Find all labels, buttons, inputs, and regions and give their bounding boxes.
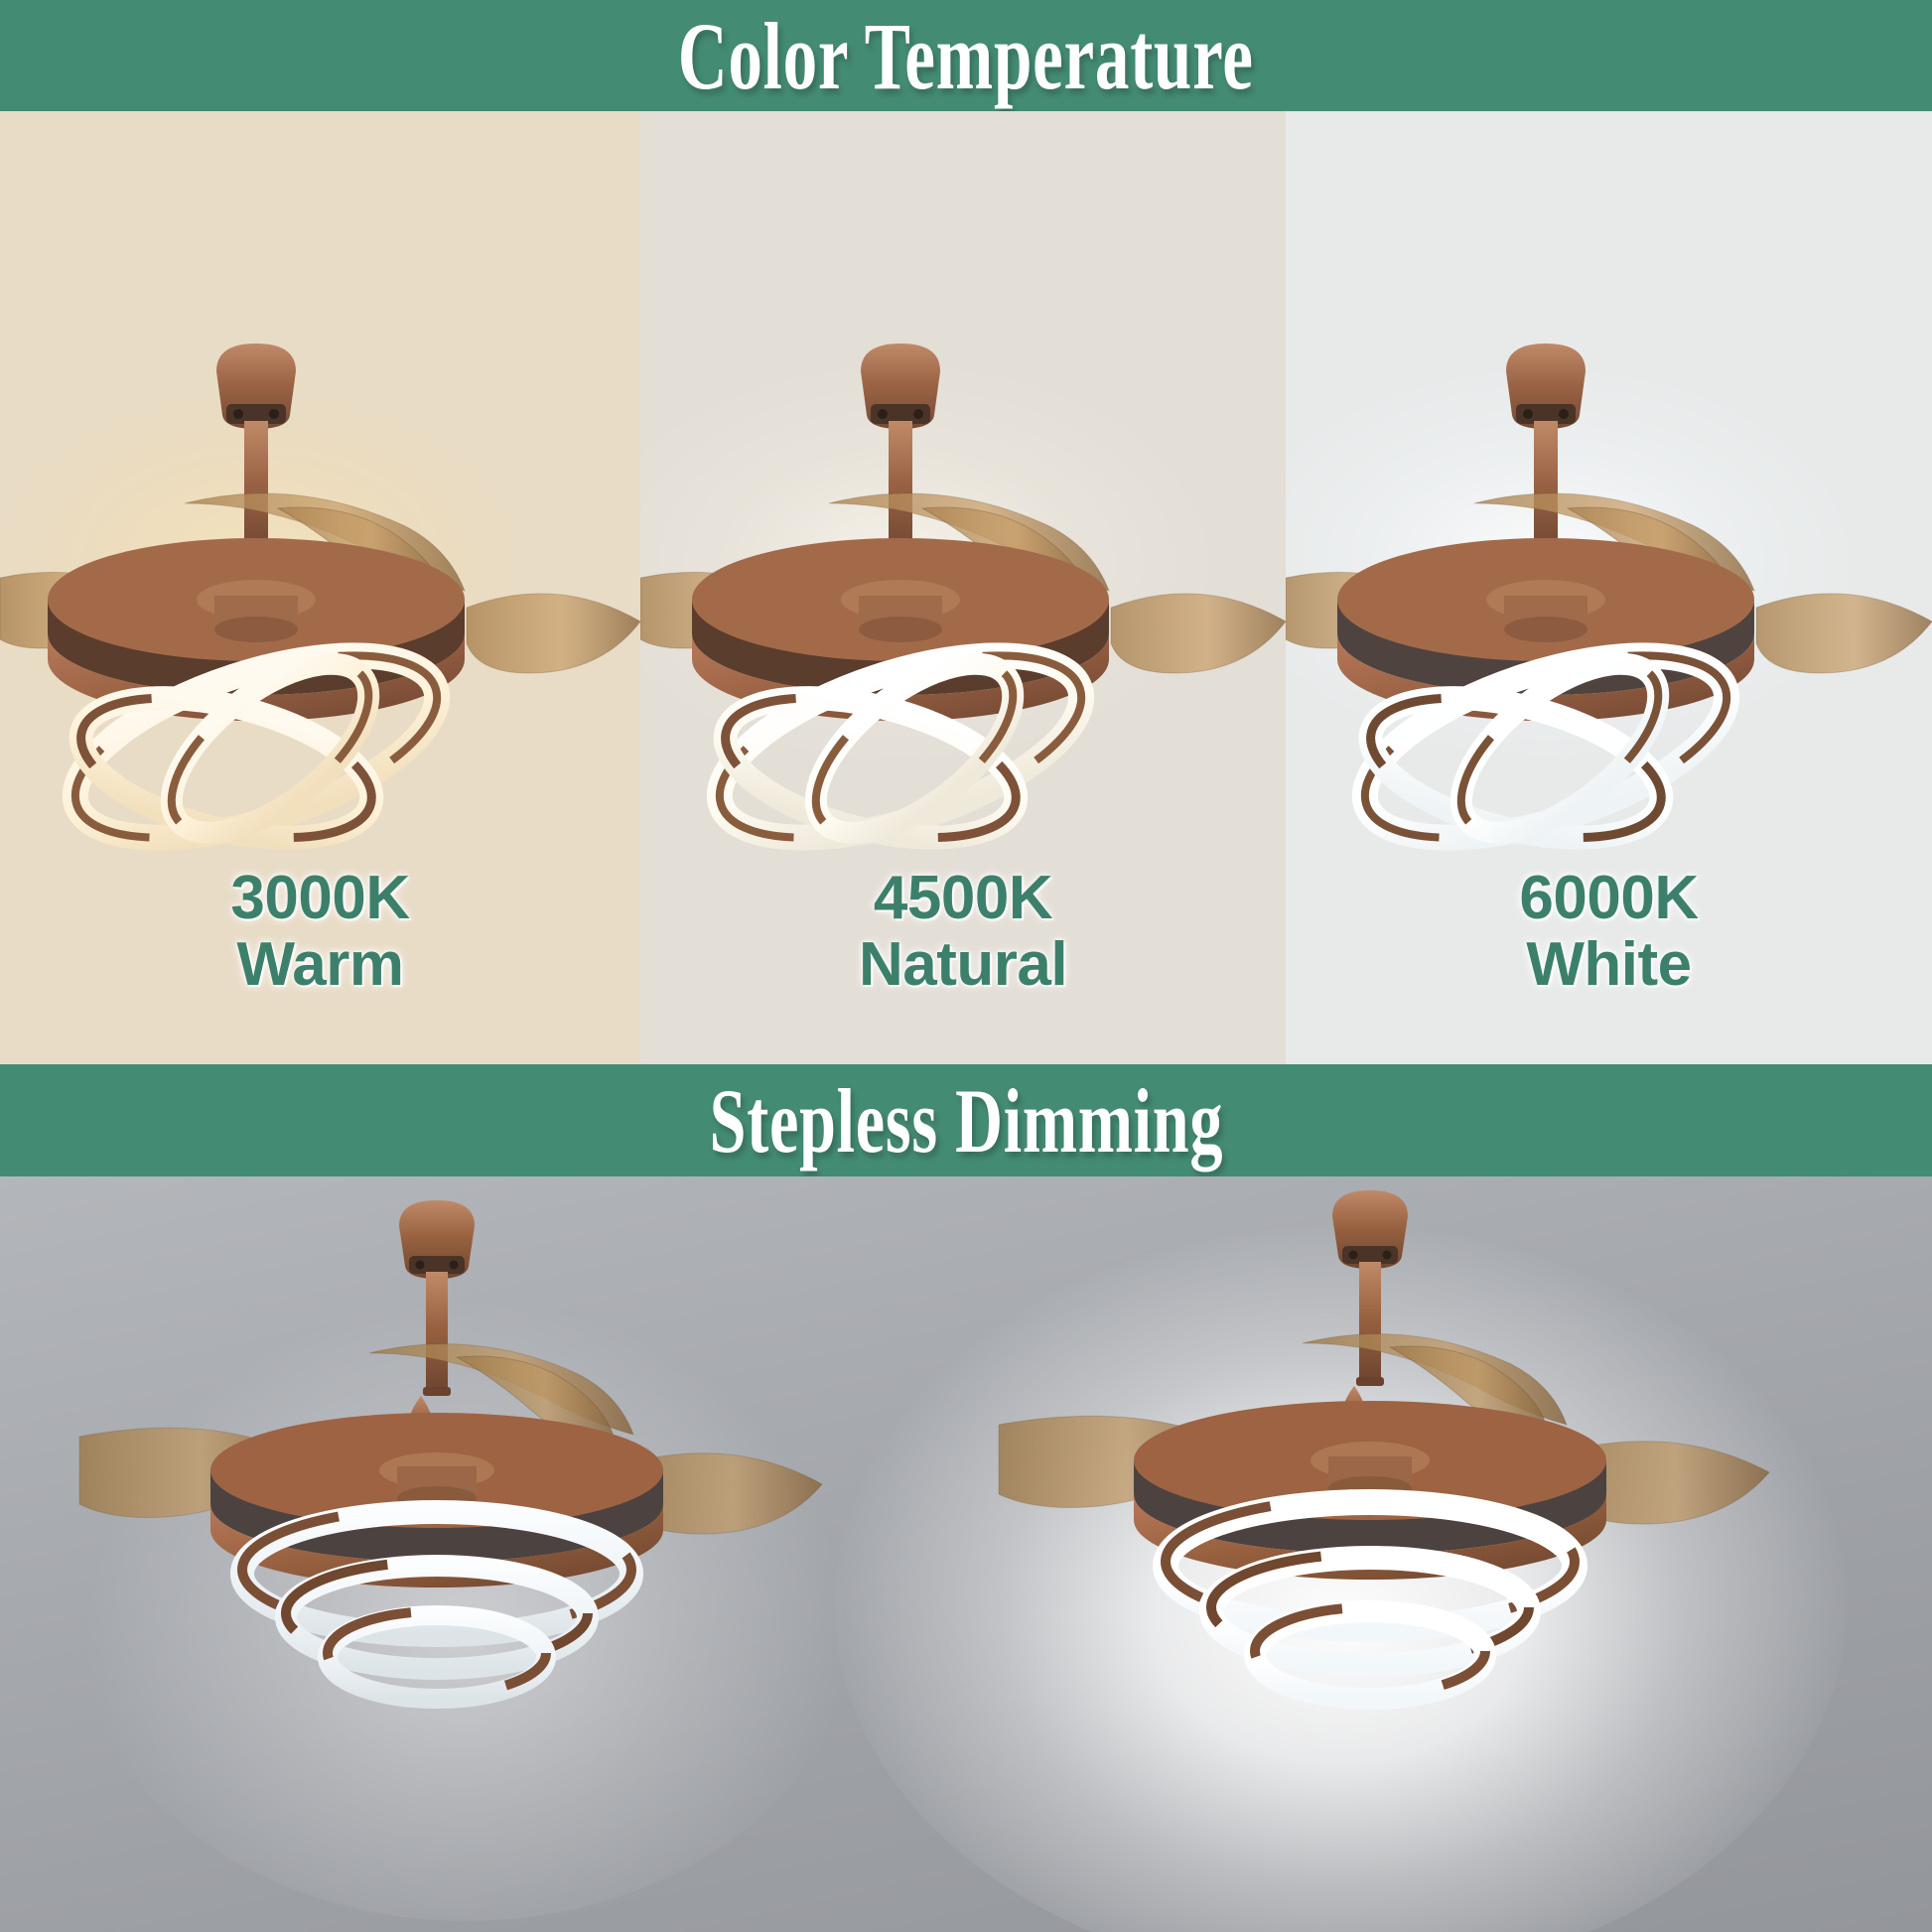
color-temperature-banner: Color Temperature: [0, 0, 1932, 111]
caption-natural: 4500K Natural: [640, 866, 1286, 999]
infographic-page: Color Temperature: [0, 0, 1932, 1932]
kelvin-value-natural: 4500K: [640, 866, 1286, 932]
stepless-dimming-title: Stepless Dimming: [709, 1068, 1223, 1173]
stepless-dimming-banner: Stepless Dimming: [0, 1064, 1932, 1176]
kelvin-value-white: 6000K: [1286, 866, 1932, 932]
color-temperature-panel-white: 6000K White: [1286, 111, 1932, 1064]
caption-white: 6000K White: [1286, 866, 1932, 999]
color-temperature-panel-warm: 3000K Warm: [0, 111, 640, 1064]
kelvin-name-natural: Natural: [640, 932, 1286, 999]
fan-mount-dim-low: [399, 1200, 475, 1449]
dimming-fan-low: [20, 1176, 913, 1772]
kelvin-name-warm: Warm: [0, 932, 640, 999]
caption-warm: 3000K Warm: [0, 866, 640, 999]
ceiling-fan-illustration-dim-high: [874, 1176, 1906, 1772]
color-temperature-panel-natural: 4500K Natural: [640, 111, 1286, 1064]
stepless-dimming-row: 10%: [0, 1176, 1932, 1932]
kelvin-value-warm: 3000K: [0, 866, 640, 932]
color-temperature-title: Color Temperature: [678, 1, 1254, 111]
color-temperature-row: 3000K Warm: [0, 111, 1932, 1064]
ceiling-fan-illustration-dim-low: [20, 1176, 913, 1772]
dimming-fan-high: [874, 1176, 1906, 1772]
kelvin-name-white: White: [1286, 932, 1932, 999]
